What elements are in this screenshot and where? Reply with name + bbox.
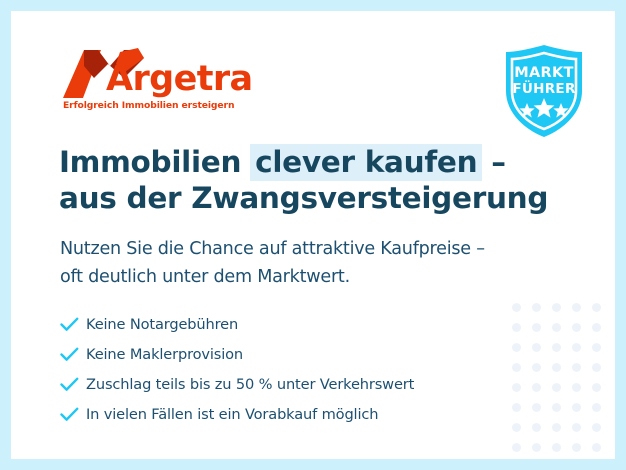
list-item: In vielen Fällen ist ein Vorabkauf mögli… <box>60 399 520 429</box>
decorative-dot <box>572 303 581 312</box>
decorative-dot <box>532 443 541 452</box>
promo-banner: Argetra Erfolgreich Immobilien ersteiger… <box>0 0 626 470</box>
decorative-dot <box>592 303 601 312</box>
page-title: Immobilien clever kaufen – aus der Zwang… <box>59 144 548 216</box>
banner-card: Argetra Erfolgreich Immobilien ersteiger… <box>11 11 615 459</box>
decorative-dot <box>552 423 561 432</box>
check-icon <box>60 407 86 422</box>
decorative-dot <box>552 363 561 372</box>
decorative-dot <box>572 363 581 372</box>
badge-line-2: FÜHRER <box>498 81 590 97</box>
decorative-dot <box>532 303 541 312</box>
check-icon <box>60 317 86 332</box>
logo-tagline: Erfolgreich Immobilien ersteigern <box>63 100 234 111</box>
headline-highlight: clever kaufen <box>250 144 482 181</box>
check-icon <box>60 377 86 392</box>
decorative-dot <box>532 383 541 392</box>
check-icon <box>60 347 86 362</box>
decorative-dot <box>592 343 601 352</box>
decorative-dot <box>532 363 541 372</box>
headline-part-2: – <box>481 145 505 179</box>
list-item-label: Zuschlag teils bis zu 50 % unter Verkehr… <box>86 376 414 393</box>
decorative-dot <box>592 323 601 332</box>
decorative-dot <box>512 443 521 452</box>
decorative-dot <box>592 403 601 412</box>
decorative-dot <box>572 423 581 432</box>
market-leader-badge: MARKT FÜHRER <box>498 43 590 139</box>
decorative-dot <box>552 343 561 352</box>
decorative-dot <box>572 403 581 412</box>
subtitle: Nutzen Sie die Chance auf attraktive Kau… <box>60 235 485 291</box>
decorative-dot <box>592 423 601 432</box>
decorative-dot <box>532 343 541 352</box>
list-item-label: Keine Notargebühren <box>86 316 238 333</box>
decorative-dot <box>532 423 541 432</box>
headline-line-1: Immobilien clever kaufen – <box>59 144 548 180</box>
decorative-dot <box>552 303 561 312</box>
decorative-dot <box>572 383 581 392</box>
decorative-dot <box>552 443 561 452</box>
decorative-dot <box>592 383 601 392</box>
list-item: Keine Notargebühren <box>60 309 520 339</box>
decorative-dot <box>532 323 541 332</box>
decorative-dot <box>592 363 601 372</box>
argetra-logo[interactable]: Argetra Erfolgreich Immobilien ersteiger… <box>58 42 258 122</box>
list-item-label: In vielen Fällen ist ein Vorabkauf mögli… <box>86 406 378 423</box>
list-item: Zuschlag teils bis zu 50 % unter Verkehr… <box>60 369 520 399</box>
decorative-dot <box>552 403 561 412</box>
subtitle-line-2: oft deutlich unter dem Marktwert. <box>60 263 485 291</box>
decorative-dot-grid <box>512 303 612 459</box>
benefits-list: Keine NotargebührenKeine Maklerprovision… <box>60 309 520 429</box>
decorative-dot <box>532 403 541 412</box>
decorative-dot <box>592 443 601 452</box>
decorative-dot <box>572 323 581 332</box>
decorative-dot <box>552 323 561 332</box>
decorative-dot <box>552 383 561 392</box>
badge-line-1: MARKT <box>498 65 590 81</box>
list-item-label: Keine Maklerprovision <box>86 346 243 363</box>
list-item: Keine Maklerprovision <box>60 339 520 369</box>
decorative-dot <box>572 343 581 352</box>
subtitle-line-1: Nutzen Sie die Chance auf attraktive Kau… <box>60 235 485 263</box>
headline-part-1: Immobilien <box>59 145 251 179</box>
logo-wordmark: Argetra <box>106 62 253 97</box>
headline-line-2: aus der Zwangsversteigerung <box>59 180 548 216</box>
decorative-dot <box>572 443 581 452</box>
